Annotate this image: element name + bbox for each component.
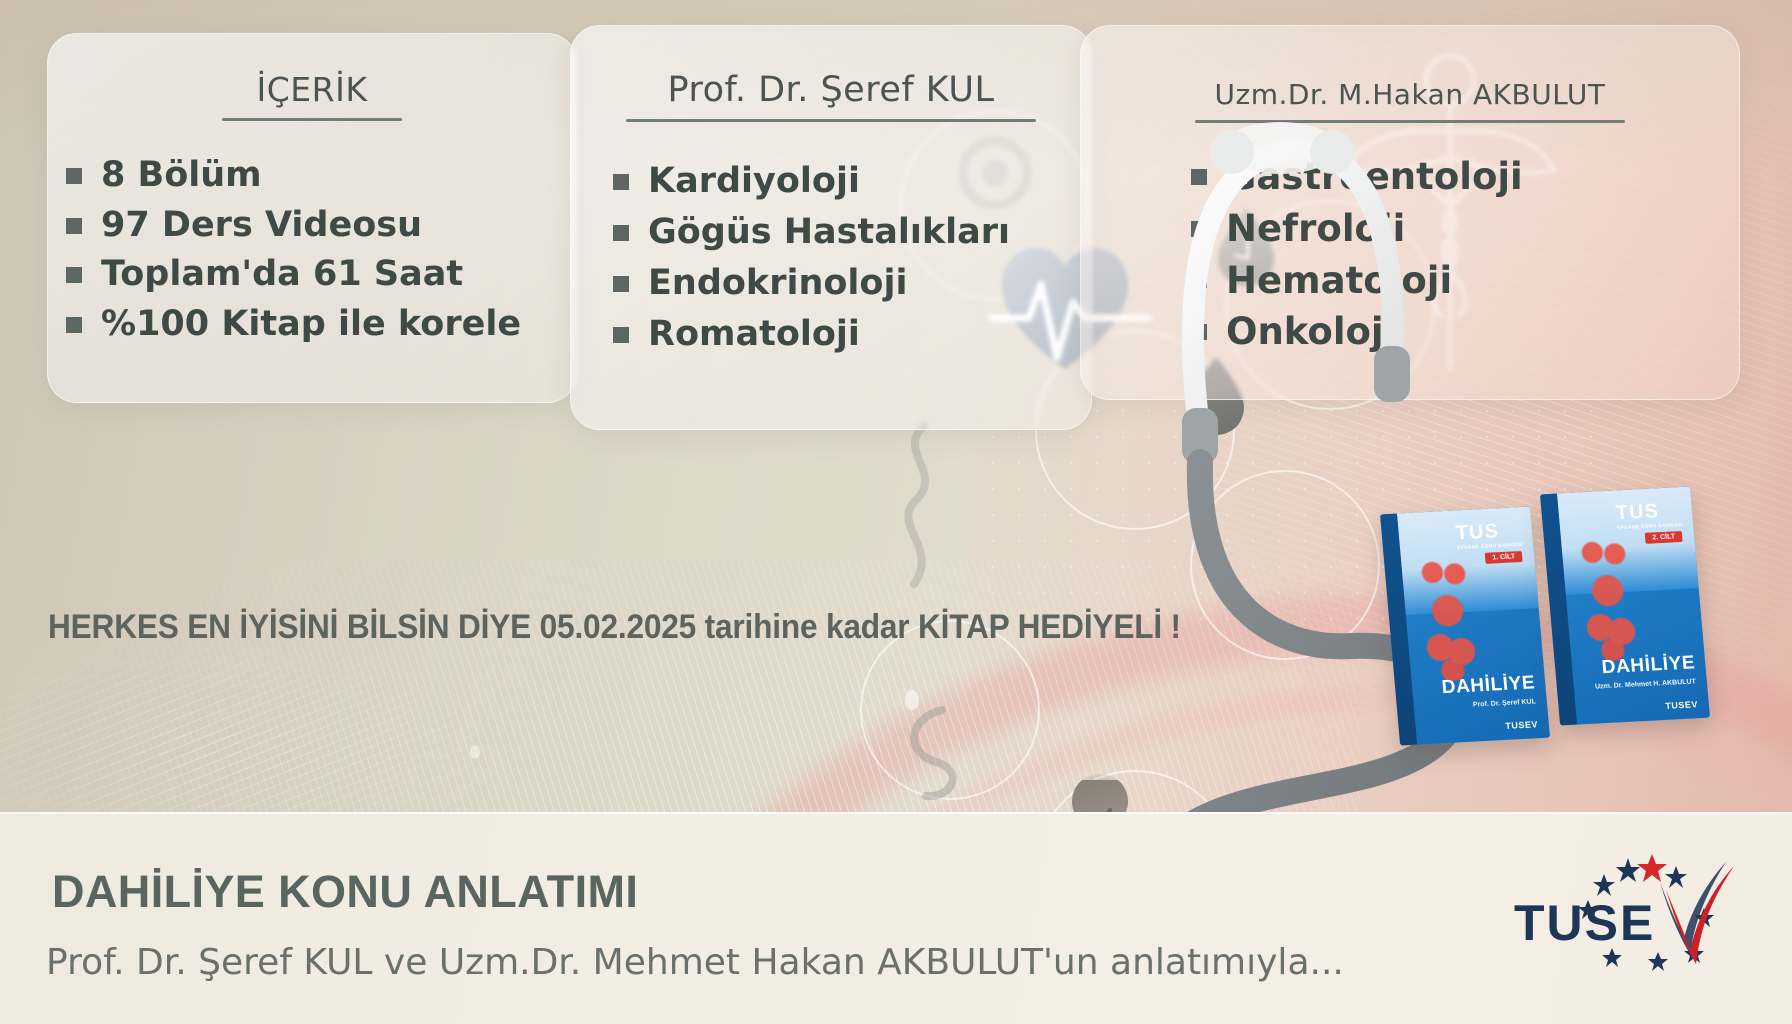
- book-title: DAHİLİYE: [1441, 672, 1536, 699]
- promo-text: HERKES EN İYİSİNİ BİLSİN DİYE 05.02.2025…: [48, 608, 1181, 647]
- decor-ring: [1190, 470, 1380, 660]
- list-item: Romatoloji: [613, 309, 1091, 360]
- bullet-square-icon: [613, 327, 629, 343]
- list-item-label: Nefroloji: [1226, 203, 1405, 255]
- list-item: Gögüs Hastalıkları: [613, 207, 1091, 258]
- bullet-square-icon: [613, 276, 629, 292]
- decor-dot: [905, 690, 919, 710]
- list-item-label: %100 Kitap ile korele: [101, 300, 521, 350]
- bullet-square-icon: [1191, 272, 1207, 288]
- content-card-icerik: İÇERİK 8 Bölüm 97 Ders Videosu Toplam'da…: [47, 33, 577, 403]
- card-title-text: Uzm.Dr. M.Hakan AKBULUT: [1215, 78, 1606, 111]
- decor-ring: [860, 620, 1040, 800]
- page-subtitle: Prof. Dr. Şeref KUL ve Uzm.Dr. Mehmet Ha…: [46, 942, 1344, 983]
- title-underline: [222, 118, 402, 121]
- bullet-square-icon: [613, 174, 629, 190]
- card-title-text: İÇERİK: [257, 70, 368, 109]
- list-item-label: 97 Ders Videosu: [101, 201, 422, 251]
- list-item-label: 8 Bölüm: [101, 151, 262, 201]
- card-title-text: Prof. Dr. Şeref KUL: [668, 70, 995, 110]
- content-card-seref-kul: Prof. Dr. Şeref KUL Kardiyoloji Gögüs Ha…: [570, 25, 1092, 430]
- decor-dot: [470, 745, 480, 759]
- book-volume-badge: 1. CİLT: [1485, 551, 1523, 564]
- book-brand-text: TUS: [1615, 500, 1660, 524]
- dna-helix-icon: [890, 420, 950, 590]
- book-volume-2: TUSEFSANE SORU BANKASI 2. CİLT DAHİLİYE …: [1540, 487, 1710, 726]
- seref-kul-list: Kardiyoloji Gögüs Hastalıkları Endokrino…: [613, 156, 1091, 360]
- list-item-label: Onkoloji: [1226, 306, 1396, 358]
- card-title-seref-kul: Prof. Dr. Şeref KUL: [571, 26, 1091, 122]
- list-item: %100 Kitap ile korele: [66, 300, 576, 350]
- book-brand: TUSEFSANE SORU BANKASI: [1455, 519, 1523, 551]
- book-author: Prof. Dr. Şeref KUL: [1473, 698, 1537, 708]
- list-item: 97 Ders Videosu: [66, 201, 576, 251]
- list-item: Nefroloji: [1191, 203, 1739, 255]
- book-title: DAHİLİYE: [1601, 652, 1696, 679]
- organ-illustration: [1565, 529, 1650, 662]
- tusev-logo: TUSE: [1508, 852, 1756, 972]
- book-publisher-logo: TUSEV: [1505, 719, 1538, 731]
- list-item-label: Romatoloji: [648, 309, 860, 360]
- list-item: Hematoloji: [1191, 255, 1739, 307]
- list-item: Gastroentoloji: [1191, 151, 1739, 203]
- card-title-hakan-akbulut: Uzm.Dr. M.Hakan AKBULUT: [1081, 26, 1739, 123]
- icerik-list: 8 Bölüm 97 Ders Videosu Toplam'da 61 Saa…: [66, 151, 576, 350]
- list-item: 8 Bölüm: [66, 151, 576, 201]
- card-title-icerik: İÇERİK: [48, 34, 576, 121]
- book-brand-text: TUS: [1455, 520, 1500, 544]
- list-item-label: Gögüs Hastalıkları: [648, 207, 1010, 258]
- title-underline: [626, 119, 1036, 122]
- page-title: DAHİLİYE KONU ANLATIMI: [52, 866, 638, 918]
- list-item: Kardiyoloji: [613, 156, 1091, 207]
- list-item: Toplam'da 61 Saat: [66, 250, 576, 300]
- list-item-label: Hematoloji: [1226, 255, 1452, 307]
- list-item-label: Kardiyoloji: [648, 156, 860, 207]
- list-item-label: Gastroentoloji: [1226, 151, 1523, 203]
- list-item-label: Endokrinoloji: [648, 258, 907, 309]
- organ-illustration: [1405, 549, 1490, 682]
- book-publisher-logo: TUSEV: [1665, 699, 1698, 711]
- content-card-hakan-akbulut: Uzm.Dr. M.Hakan AKBULUT Gastroentoloji N…: [1080, 25, 1740, 400]
- bullet-square-icon: [1191, 169, 1207, 185]
- promo-poster: İÇERİK 8 Bölüm 97 Ders Videosu Toplam'da…: [0, 0, 1792, 1024]
- book-brand: TUSEFSANE SORU BANKASI: [1615, 499, 1683, 531]
- dna-swirl-icon: [890, 700, 980, 810]
- bullet-square-icon: [66, 317, 82, 333]
- bullet-square-icon: [66, 168, 82, 184]
- hakan-akbulut-list: Gastroentoloji Nefroloji Hematoloji Onko…: [1191, 151, 1739, 358]
- list-item: Endokrinoloji: [613, 258, 1091, 309]
- book-set: TUSEFSANE SORU BANKASI 1. CİLT DAHİLİYE …: [1390, 478, 1790, 748]
- list-item-label: Toplam'da 61 Saat: [101, 250, 463, 300]
- book-volume-1: TUSEFSANE SORU BANKASI 1. CİLT DAHİLİYE …: [1380, 507, 1550, 746]
- footer-bar: DAHİLİYE KONU ANLATIMI Prof. Dr. Şeref K…: [0, 812, 1792, 1024]
- book-volume-badge: 2. CİLT: [1645, 531, 1683, 544]
- book-author: Uzm. Dr. Mehmet H. AKBULUT: [1595, 678, 1696, 690]
- bullet-square-icon: [1191, 324, 1207, 340]
- bullet-square-icon: [66, 267, 82, 283]
- bullet-square-icon: [613, 225, 629, 241]
- tusev-logo-text: TUSE: [1514, 894, 1655, 952]
- bullet-square-icon: [66, 218, 82, 234]
- bullet-square-icon: [1191, 221, 1207, 237]
- title-underline: [1195, 120, 1625, 123]
- list-item: Onkoloji: [1191, 306, 1739, 358]
